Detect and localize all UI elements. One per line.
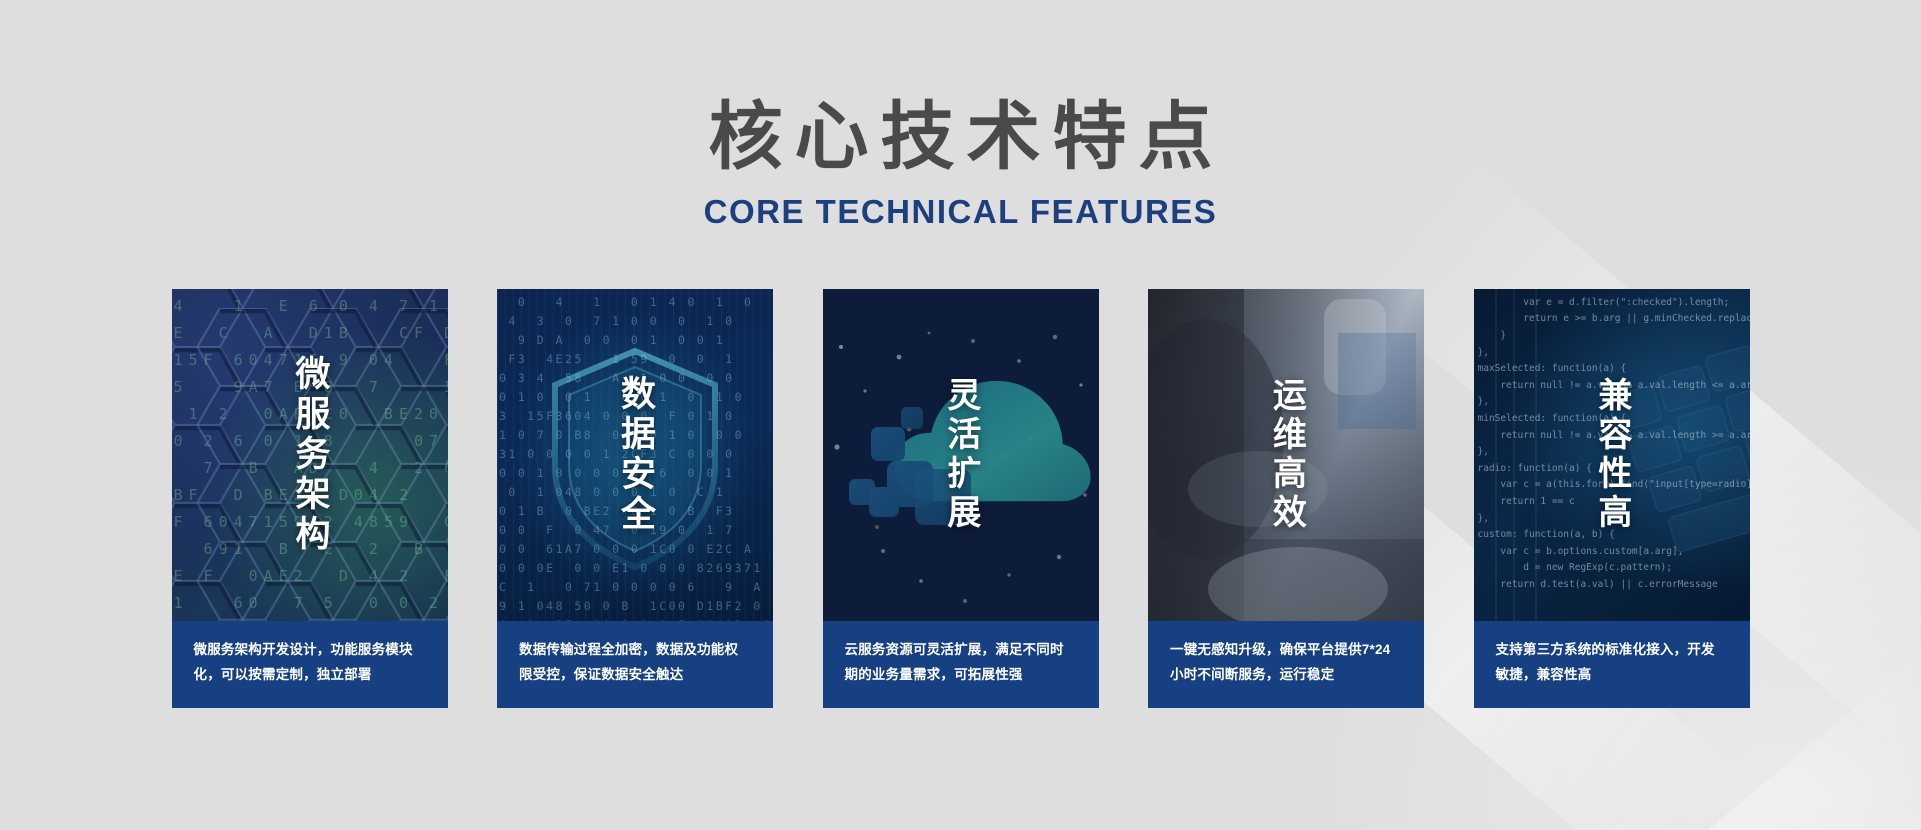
card-caption: 数据传输过程全加密，数据及功能权限受控，保证数据安全触达 <box>497 621 773 708</box>
card-caption: 云服务资源可灵活扩展，满足不同时期的业务量需求，可拓展性强 <box>823 621 1099 708</box>
card-visual: 灵活扩展 <box>823 289 1099 621</box>
card-visual: var e = d.filter(":checked").length; ret… <box>1474 289 1750 621</box>
feature-card-row: 4 1 E 6 0 4 7 1 5 9 E C A D1B CF D1A2 C … <box>172 289 1750 708</box>
card-vertical-title: 灵活扩展 <box>823 289 1099 621</box>
card-caption: 微服务架构开发设计，功能服务模块化，可以按需定制，独立部署 <box>172 621 448 708</box>
card-vertical-title: 兼容性高 <box>1474 289 1750 621</box>
section-header: 核心技术特点 CORE TECHNICAL FEATURES <box>0 0 1921 231</box>
card-caption: 一键无感知升级，确保平台提供7*24 小时不间断服务，运行稳定 <box>1148 621 1424 708</box>
card-vertical-title: 运维高效 <box>1148 289 1424 621</box>
card-visual: 0 4 1 0 1 4 0 1 0 4 3 0 7 1 0 0 0 1 0 9 … <box>497 289 773 621</box>
feature-card-data-security[interactable]: 0 4 1 0 1 4 0 1 0 4 3 0 7 1 0 0 0 1 0 9 … <box>497 289 773 708</box>
card-vertical-title-text: 数据安全 <box>613 375 657 535</box>
page-title: 核心技术特点 <box>0 96 1921 179</box>
feature-card-microservice-architecture[interactable]: 4 1 E 6 0 4 7 1 5 9 E C A D1B CF D1A2 C … <box>172 289 448 708</box>
card-caption: 支持第三方系统的标准化接入，开发敏捷，兼容性高 <box>1474 621 1750 708</box>
feature-card-high-compatibility[interactable]: var e = d.filter(":checked").length; ret… <box>1474 289 1750 708</box>
card-vertical-title: 微服务架构 <box>172 289 448 621</box>
card-vertical-title-text: 兼容性高 <box>1590 377 1633 533</box>
card-vertical-title: 数据安全 <box>497 289 773 621</box>
card-vertical-title-text: 微服务架构 <box>287 355 331 555</box>
page-subtitle: CORE TECHNICAL FEATURES <box>0 193 1921 231</box>
feature-card-flexible-scaling[interactable]: 灵活扩展 云服务资源可灵活扩展，满足不同时期的业务量需求，可拓展性强 <box>823 289 1099 708</box>
feature-card-efficient-operations[interactable]: 运维高效 一键无感知升级，确保平台提供7*24 小时不间断服务，运行稳定 <box>1148 289 1424 708</box>
card-vertical-title-text: 灵活扩展 <box>939 377 982 533</box>
card-vertical-title-text: 运维高效 <box>1265 377 1308 533</box>
watermark-stripe-3 <box>1188 788 1759 830</box>
card-visual: 4 1 E 6 0 4 7 1 5 9 E C A D1B CF D1A2 C … <box>172 289 448 621</box>
card-visual: 运维高效 <box>1148 289 1424 621</box>
